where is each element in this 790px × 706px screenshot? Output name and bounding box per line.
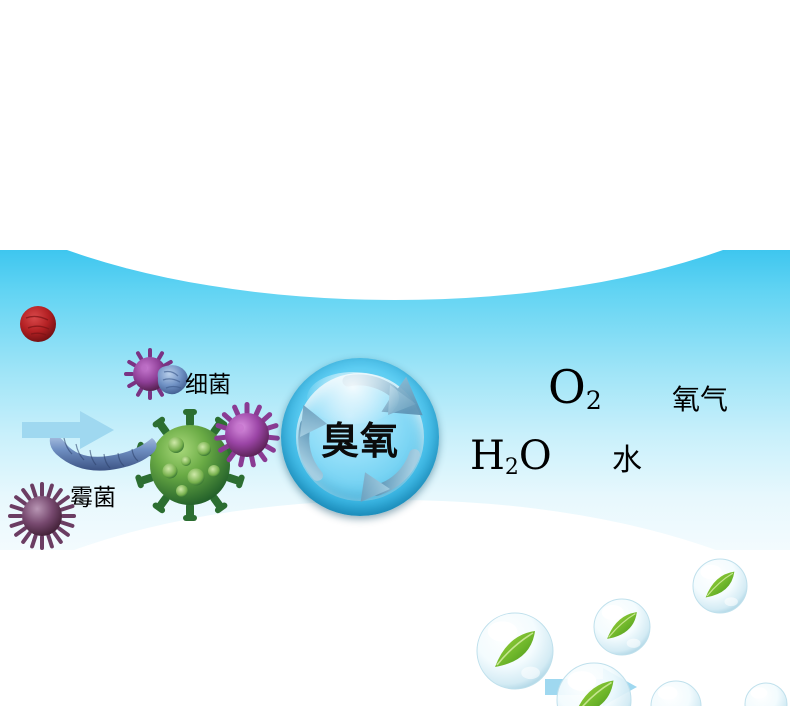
formula-oxygen-subscript: 2 (586, 386, 602, 415)
process-diagram: 臭氧 细菌 霉菌 氧气 水 O2 H2O (0, 250, 790, 550)
label-oxygen: 氧气 (672, 378, 728, 418)
plain-bubble-icon (650, 680, 702, 706)
formula-oxygen-symbol: O (548, 360, 586, 414)
water-bubble-leaf-large-icon (556, 662, 632, 706)
red-blob-germ-icon (16, 302, 60, 346)
purple-spiky-germ-large-icon (212, 400, 282, 470)
formula-water-h: H (470, 433, 505, 479)
formula-water-o: O (519, 433, 552, 479)
label-water: 水 (612, 435, 642, 479)
label-bacteria: 细菌 (185, 365, 231, 399)
left-flow-arrow-icon (22, 411, 114, 449)
infographic-canvas: 高效杀菌 安全无污染 通过曝气筒释放出游离状态的臭氧，随着水流动进行循环，无死角… (0, 0, 790, 706)
formula-water-subscript: 2 (505, 455, 519, 480)
ozone-sphere: 臭氧 (281, 358, 439, 516)
label-mold: 霉菌 (70, 478, 116, 512)
dark-purple-spiky-germ-icon (6, 480, 78, 552)
water-bubble-leaf-icon (476, 612, 554, 690)
oxygen-bubble-leaf-icon (692, 558, 748, 614)
band-top-cutout (0, 0, 790, 300)
formula-water: H2O (470, 433, 552, 479)
formula-oxygen: O2 (548, 360, 602, 414)
plain-bubble-small-icon (744, 682, 788, 706)
ozone-label: 臭氧 (281, 358, 439, 516)
oxygen-bubble-leaf-small-icon (593, 598, 651, 656)
